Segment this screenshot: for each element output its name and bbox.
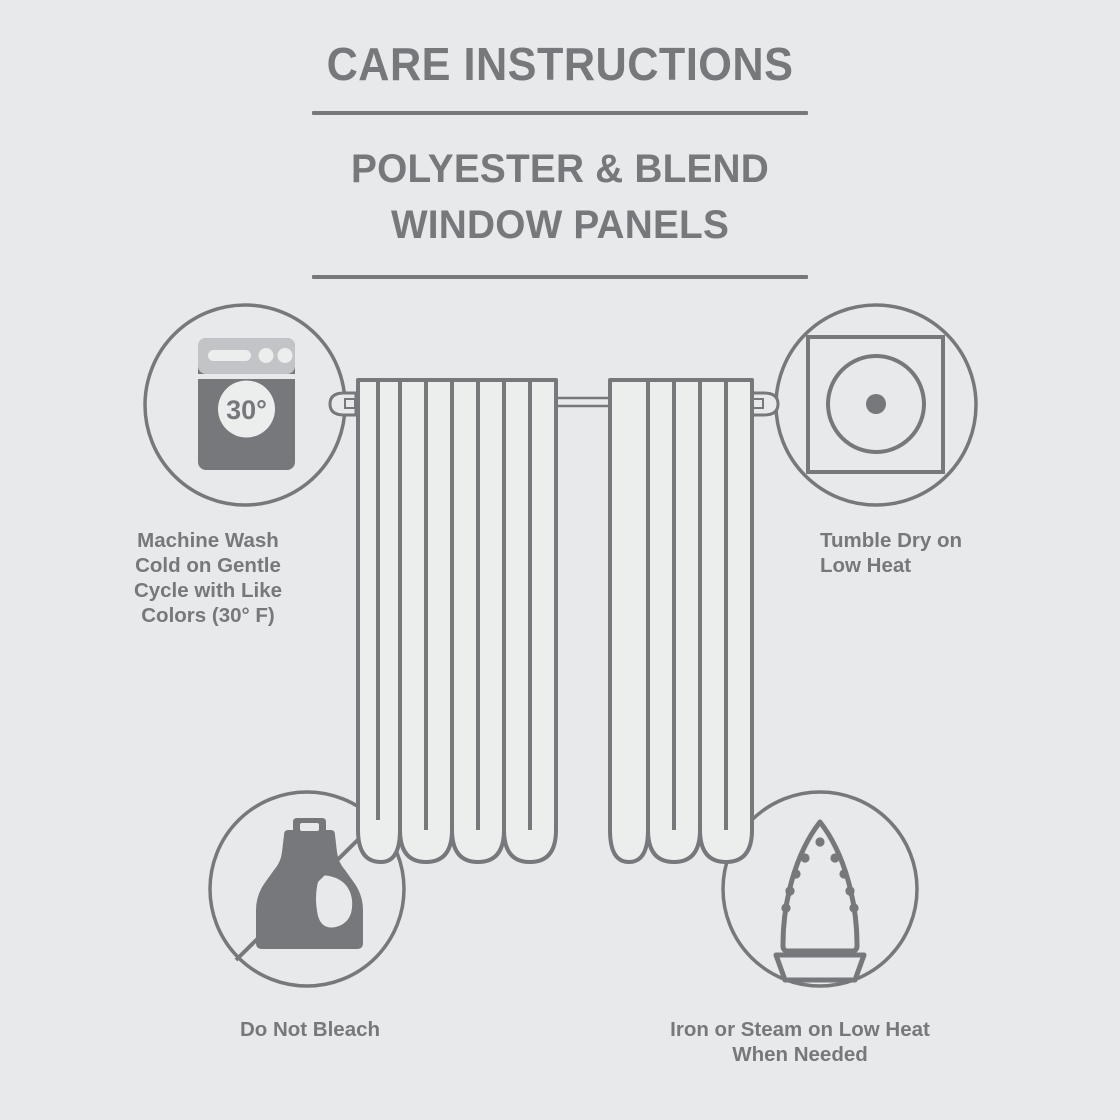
curtain-panel-right [610,380,752,862]
washing-machine-icon: 30° [198,338,295,470]
tumble-dry-icon [808,337,943,472]
curtain-panel-left [358,380,556,862]
iron-steam-holes [781,837,858,912]
caption-iron: Iron or Steam on Low Heat When Needed [600,1017,1000,1067]
caption-machine-wash: Machine Wash Cold on Gentle Cycle with L… [88,528,328,628]
iron-icon [776,822,864,980]
wash-temp-badge: 30° [226,395,267,425]
caption-do-not-bleach: Do Not Bleach [185,1017,435,1042]
care-instructions-infographic: CARE INSTRUCTIONS POLYESTER & BLENDWINDO… [0,0,1120,1120]
caption-tumble-dry: Tumble Dry on Low Heat [820,528,1070,578]
